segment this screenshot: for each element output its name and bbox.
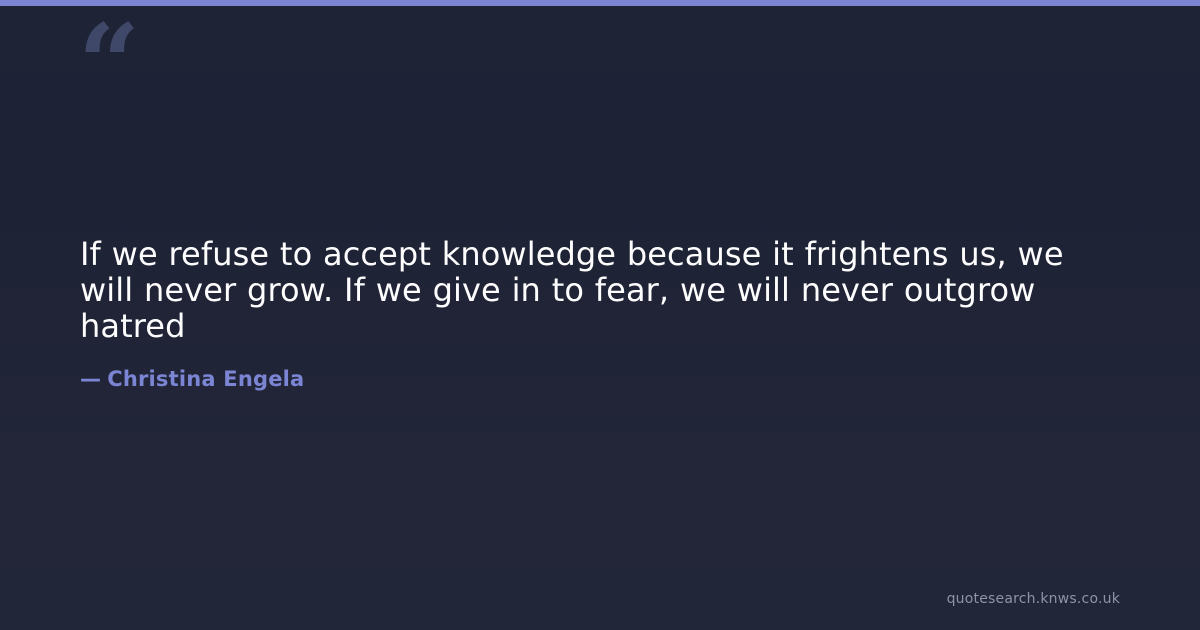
top-accent-bar: [0, 0, 1200, 6]
attribution-dash: —: [80, 366, 101, 392]
quote-content: If we refuse to accept knowledge because…: [80, 236, 1124, 392]
quote-attribution: —Christina Engela: [80, 344, 1124, 392]
quote-card: “ If we refuse to accept knowledge becau…: [0, 0, 1200, 630]
quotation-mark-icon: “: [78, 10, 138, 118]
quote-text: If we refuse to accept knowledge because…: [80, 236, 1124, 344]
source-url-label: quotesearch.knws.co.uk: [947, 590, 1120, 608]
author-name: Christina Engela: [107, 367, 304, 391]
